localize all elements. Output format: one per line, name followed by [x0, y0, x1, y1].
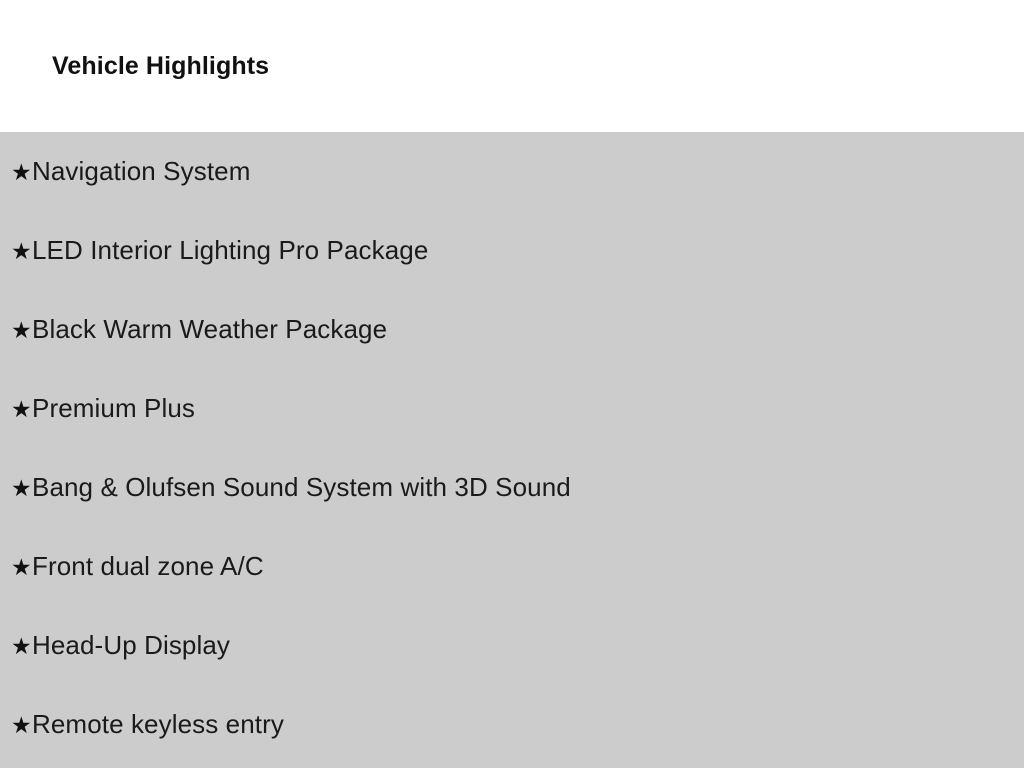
page-header: Vehicle Highlights [0, 0, 1024, 132]
vehicle-highlights-page: Vehicle Highlights ★ Navigation System ★… [0, 0, 1024, 768]
list-item-label: Navigation System [32, 132, 250, 211]
list-item: ★ Premium Plus [0, 369, 1024, 448]
list-item-label: Head-Up Display [32, 606, 230, 685]
star-icon: ★ [0, 291, 32, 370]
list-item-label: Premium Plus [32, 369, 195, 448]
page-title: Vehicle Highlights [52, 51, 269, 81]
list-item: ★ LED Interior Lighting Pro Package [0, 211, 1024, 290]
list-item-label: Front dual zone A/C [32, 527, 264, 606]
star-icon: ★ [0, 528, 32, 607]
star-icon: ★ [0, 370, 32, 449]
list-item: ★ Front dual zone A/C [0, 527, 1024, 606]
star-icon: ★ [0, 686, 32, 765]
star-icon: ★ [0, 449, 32, 528]
star-icon: ★ [0, 212, 32, 291]
list-item-label: Bang & Olufsen Sound System with 3D Soun… [32, 448, 571, 527]
list-item-label: Black Warm Weather Package [32, 290, 387, 369]
list-item-label: Remote keyless entry [32, 685, 284, 764]
vehicle-highlights-panel: ★ Navigation System ★ LED Interior Light… [0, 132, 1024, 768]
star-icon: ★ [0, 607, 32, 686]
list-item: ★ Black Warm Weather Package [0, 290, 1024, 369]
list-item: ★ Navigation System [0, 132, 1024, 211]
vehicle-highlights-list: ★ Navigation System ★ LED Interior Light… [0, 132, 1024, 764]
list-item: ★ Bang & Olufsen Sound System with 3D So… [0, 448, 1024, 527]
list-item: ★ Head-Up Display [0, 606, 1024, 685]
list-item: ★ Remote keyless entry [0, 685, 1024, 764]
list-item-label: LED Interior Lighting Pro Package [32, 211, 428, 290]
star-icon: ★ [0, 133, 32, 212]
